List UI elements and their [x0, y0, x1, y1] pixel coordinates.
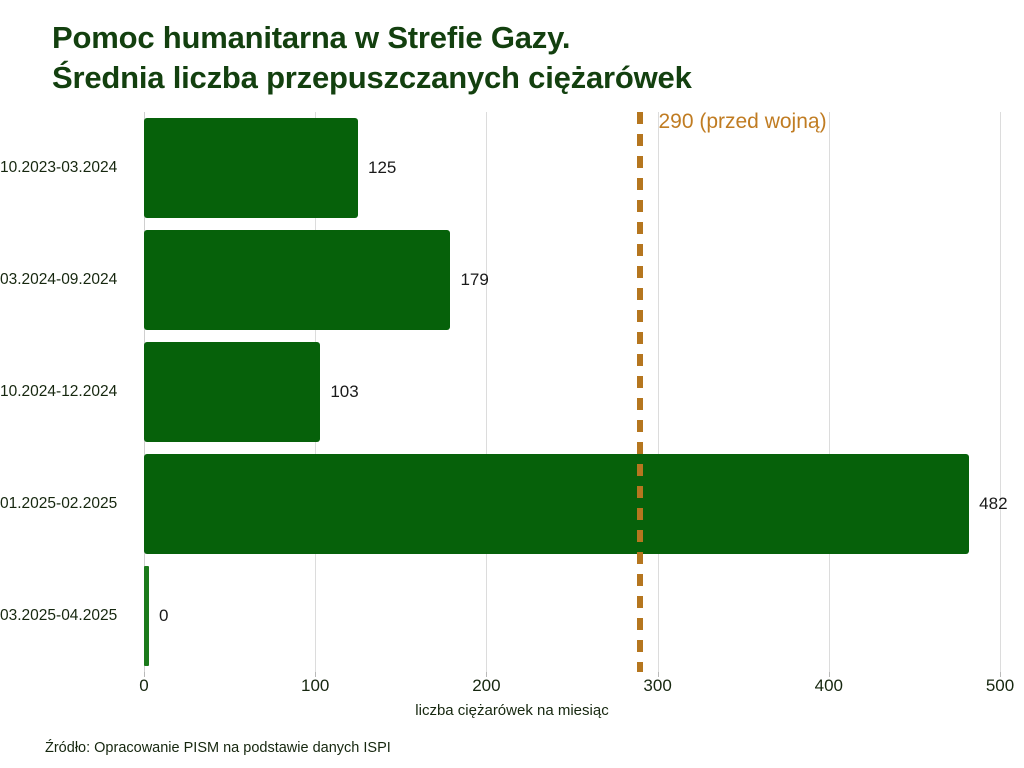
bar-value-label: 103 — [330, 382, 358, 402]
bar-01.2025-02.2025[interactable] — [144, 454, 969, 554]
gridline-500 — [1000, 112, 1001, 672]
bar-03.2025-04.2025[interactable] — [144, 566, 149, 666]
bar-10.2023-03.2024[interactable] — [144, 118, 358, 218]
reference-line-290 — [637, 112, 643, 672]
x-tick-label-0: 0 — [139, 676, 148, 696]
bar-value-label: 179 — [460, 270, 488, 290]
bar-chart: Pomoc humanitarna w Strefie Gazy. Średni… — [0, 0, 1024, 768]
x-tick-label-300: 300 — [643, 676, 671, 696]
plot-area: 1251791034820 — [144, 112, 1000, 672]
y-tick-label-10.2024-12.2024: 10.2024-12.2024 — [0, 383, 135, 401]
bar-value-label: 482 — [979, 494, 1007, 514]
bar-row[interactable]: 125 — [144, 118, 1000, 218]
bar-row[interactable]: 482 — [144, 454, 1000, 554]
bar-10.2024-12.2024[interactable] — [144, 342, 320, 442]
x-tick-label-100: 100 — [301, 676, 329, 696]
chart-title: Pomoc humanitarna w Strefie Gazy. Średni… — [52, 18, 982, 99]
bar-row[interactable]: 0 — [144, 566, 1000, 666]
y-tick-label-10.2023-03.2024: 10.2023-03.2024 — [0, 159, 135, 177]
x-tick-label-200: 200 — [472, 676, 500, 696]
x-axis-label: liczba ciężarówek na miesiąc — [0, 702, 1024, 719]
x-tick-label-400: 400 — [815, 676, 843, 696]
x-tick-label-500: 500 — [986, 676, 1014, 696]
bar-value-label: 0 — [159, 606, 168, 626]
bar-value-label: 125 — [368, 158, 396, 178]
bar-03.2024-09.2024[interactable] — [144, 230, 450, 330]
bar-row[interactable]: 179 — [144, 230, 1000, 330]
y-tick-label-03.2025-04.2025: 03.2025-04.2025 — [0, 607, 135, 625]
reference-line-label: 290 (przed wojną) — [658, 110, 826, 134]
y-tick-label-01.2025-02.2025: 01.2025-02.2025 — [0, 495, 135, 513]
bar-row[interactable]: 103 — [144, 342, 1000, 442]
y-tick-label-03.2024-09.2024: 03.2024-09.2024 — [0, 271, 135, 289]
source-note: Źródło: Opracowanie PISM na podstawie da… — [45, 740, 391, 756]
